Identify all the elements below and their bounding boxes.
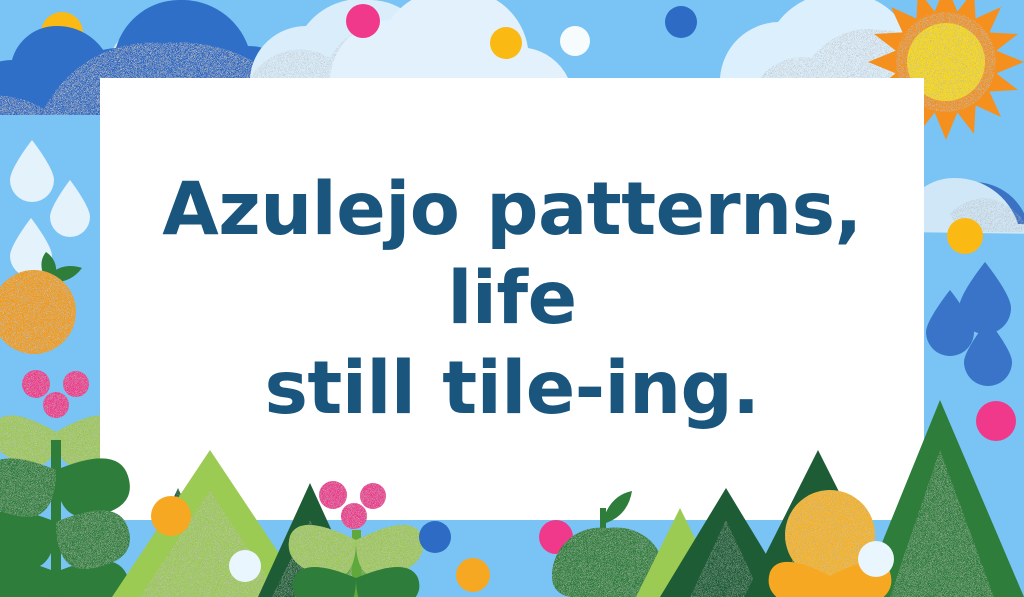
quote-card: Azulejo patterns, lifestill tile-ing. bbox=[100, 78, 924, 520]
bush-bottom-center-left bbox=[292, 553, 380, 597]
dot-yellow-top-center bbox=[490, 27, 522, 59]
cloud-right-blue bbox=[928, 182, 1024, 230]
dot-yellow-top-left bbox=[41, 12, 83, 54]
poster-canvas: Azulejo patterns, lifestill tile-ing. bbox=[0, 0, 1024, 597]
orange-fruit bbox=[0, 252, 82, 354]
dot-white-bottom-left bbox=[229, 550, 261, 582]
berries-left bbox=[22, 370, 89, 418]
dot-pink-bottom-center bbox=[539, 520, 573, 554]
dot-pink-bottom-right bbox=[976, 401, 1016, 441]
dot-blue-bottom-center bbox=[419, 521, 451, 553]
cloud-top-left-royal-blue bbox=[0, 0, 116, 112]
dot-blue-top bbox=[665, 6, 697, 38]
raindrop-right-3 bbox=[964, 320, 1012, 386]
raindrop-right-1 bbox=[959, 262, 1011, 334]
dot-white-top bbox=[560, 26, 590, 56]
dot-white-bottom-right bbox=[858, 541, 894, 577]
water-droplet-3 bbox=[10, 218, 52, 277]
dot-orange-bottom-center bbox=[456, 558, 490, 592]
cloud-top-right bbox=[720, 0, 952, 78]
page-title: Azulejo patterns, lifestill tile-ing. bbox=[117, 165, 907, 432]
quote-line-2: still tile-ing. bbox=[264, 346, 759, 431]
tree-light-bottom-right-1 bbox=[636, 508, 724, 597]
bush-bottom-left bbox=[296, 551, 388, 597]
cloud-top-center bbox=[250, 0, 476, 78]
water-droplet-1 bbox=[10, 140, 54, 202]
cloud-top-center-2 bbox=[330, 0, 568, 78]
quote-line-1: Azulejo patterns, life bbox=[162, 167, 862, 341]
water-droplet-2 bbox=[50, 180, 90, 237]
dot-pink-top bbox=[346, 4, 380, 38]
dot-yellow-right bbox=[947, 218, 983, 254]
raindrop-right-2 bbox=[926, 290, 974, 356]
bush-far-right bbox=[952, 545, 1024, 597]
